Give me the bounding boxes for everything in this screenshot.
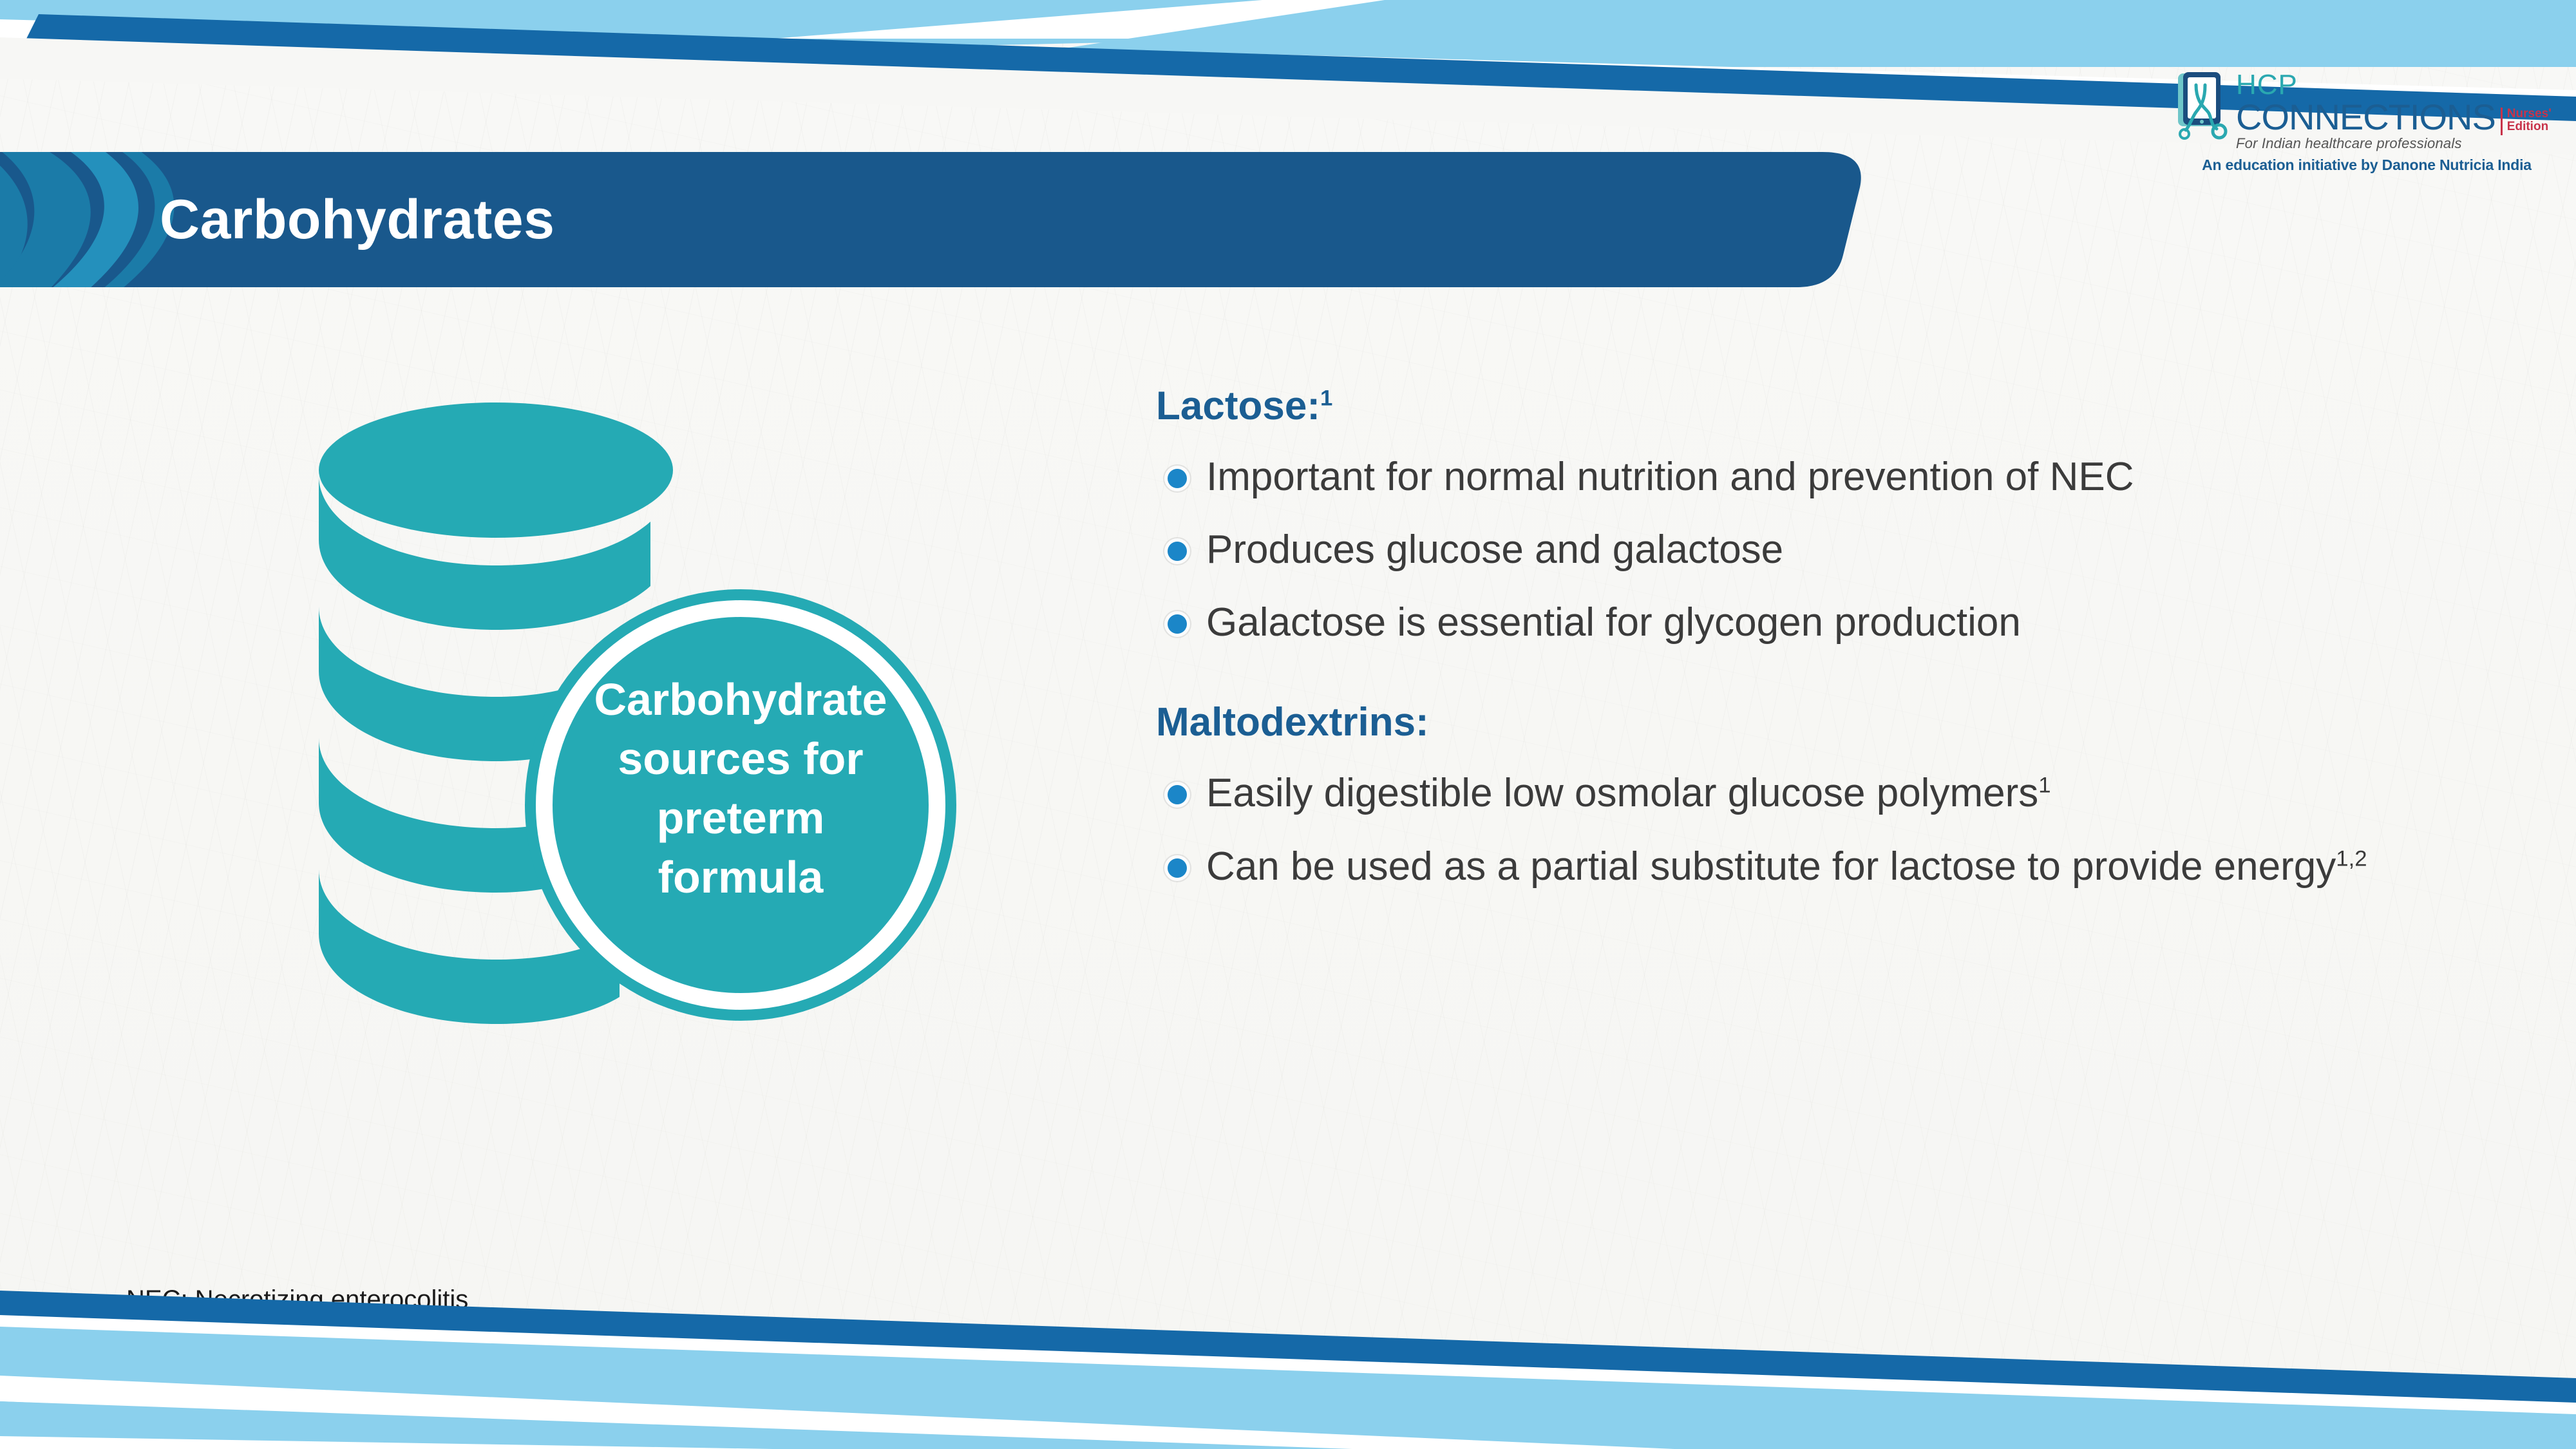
bullet-dot-icon [1168,542,1187,561]
logo-tagline: For Indian healthcare professionals [2236,135,2557,152]
bullet-dot-icon [1168,614,1187,634]
section-lactose: Lactose:1 Important for normal nutrition… [1156,386,2495,646]
bullet-text: Galactose is essential for glycogen prod… [1206,600,2021,645]
bullet-sup: 1 [2038,773,2050,798]
content-column: Lactose:1 Important for normal nutrition… [1156,386,2495,916]
section-heading-lactose-text: Lactose: [1156,384,1320,428]
list-item: Produces glucose and galactose [1156,526,2495,573]
circle-label-line-3: preterm [657,793,825,843]
bullet-list-lactose: Important for normal nutrition and preve… [1156,453,2495,646]
page-title: Carbohydrates [160,152,554,287]
circle-label-line-2: sources for [618,734,863,784]
bullet-text: Important for normal nutrition and preve… [1206,455,2134,499]
section-heading-maltodextrins-text: Maltodextrins: [1156,700,1429,744]
bullet-sup: 1,2 [2336,846,2367,871]
logo-edition-line-2: Edition [2507,120,2552,133]
list-item: Galactose is essential for glycogen prod… [1156,599,2495,646]
logo-initiative-text: An education initiative by Danone Nutric… [2177,156,2557,174]
section-heading-lactose: Lactose:1 [1156,386,2495,426]
bullet-text: Produces glucose and galactose [1206,527,1783,572]
list-item: Easily digestible low osmolar glucose po… [1156,770,2495,817]
carbohydrate-stack-graphic: Carbohydrate sources for preterm formula [270,393,1005,1082]
bullet-dot-icon [1168,858,1187,878]
bullet-text: Can be used as a partial substitute for … [1206,844,2336,889]
logo-connections-text: CONNECTIONS [2236,99,2495,135]
section-heading-lactose-sup: 1 [1320,386,1332,410]
logo-edition-badge: Nurses' Edition [2501,108,2552,135]
circle-label-line-4: formula [658,852,824,902]
bullet-dot-icon [1168,469,1187,488]
bullet-text: Easily digestible low osmolar glucose po… [1206,771,2038,815]
bullet-list-maltodextrins: Easily digestible low osmolar glucose po… [1156,770,2495,889]
bottom-decorative-ribbon [0,1282,2576,1449]
logo-edition-line-1: Nurses' [2507,108,2552,120]
tablet-stethoscope-icon [2177,71,2232,148]
slide-title-bar: Carbohydrates [0,152,1868,287]
list-item: Can be used as a partial substitute for … [1156,843,2495,890]
section-maltodextrins: Maltodextrins: Easily digestible low osm… [1156,703,2495,889]
hcp-connections-logo: HCP CONNECTIONS Nurses' Edition For Indi… [2177,71,2557,200]
section-spacer [1156,672,2495,703]
slide-root: Carbohydrates Carbohydrate sources for p… [0,0,2576,1449]
bullet-dot-icon [1168,785,1187,804]
section-heading-maltodextrins: Maltodextrins: [1156,703,2495,743]
list-item: Important for normal nutrition and preve… [1156,453,2495,500]
circle-label-line-1: Carbohydrate [594,674,887,724]
logo-hcp-text: HCP [2236,71,2557,99]
